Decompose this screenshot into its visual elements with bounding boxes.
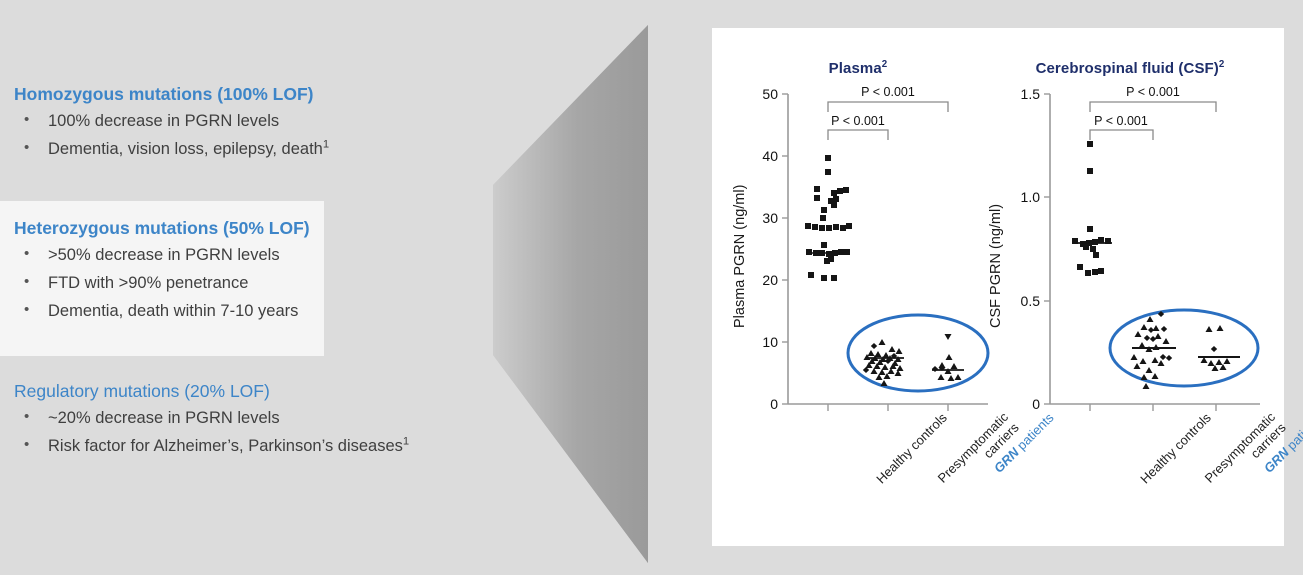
- section-homozygous: Homozygous mutations (100% LOF) 100% dec…: [0, 84, 343, 194]
- section-heterozygous: Heterozygous mutations (50% LOF) >50% de…: [0, 201, 324, 356]
- list-item: >50% decrease in PGRN levels: [14, 244, 310, 268]
- svg-text:0.5: 0.5: [1021, 293, 1041, 309]
- chart-plasma: Plasma2 Plasma PGRN (ng/ml) 0 10: [718, 28, 998, 546]
- footnote-marker: 1: [403, 435, 409, 447]
- chart-csf: Cerebrospinal fluid (CSF)2 CSF PGRN (ng/…: [980, 28, 1280, 546]
- chart-title-csf: Cerebrospinal fluid (CSF)2: [980, 60, 1280, 77]
- section-heading: Heterozygous mutations (50% LOF): [14, 218, 310, 240]
- bullet-list: 100% decrease in PGRN levels Dementia, v…: [14, 110, 329, 162]
- chart-title-plasma: Plasma2: [718, 60, 998, 77]
- svg-text:1.0: 1.0: [1021, 189, 1041, 205]
- slide-root: Homozygous mutations (100% LOF) 100% dec…: [0, 0, 1303, 575]
- list-item: Risk factor for Alzheimer’s, Parkinson’s…: [14, 435, 409, 459]
- list-item: FTD with >90% penetrance: [14, 272, 310, 296]
- right-pointing-arrow-shape: [493, 25, 653, 563]
- section-heading: Homozygous mutations (100% LOF): [14, 84, 329, 106]
- svg-text:P < 0.001: P < 0.001: [1094, 114, 1148, 128]
- svg-text:P < 0.001: P < 0.001: [1126, 85, 1180, 99]
- svg-text:P < 0.001: P < 0.001: [861, 85, 915, 99]
- plot-area-plasma: 0 10 20 30 40 50 P < 0.: [742, 86, 994, 416]
- svg-text:50: 50: [762, 86, 778, 102]
- svg-text:0: 0: [770, 396, 778, 412]
- bullet-list: ~20% decrease in PGRN levels Risk factor…: [14, 407, 409, 459]
- list-item: Dementia, vision loss, epilepsy, death1: [14, 138, 329, 162]
- bullet-list: >50% decrease in PGRN levels FTD with >9…: [14, 244, 310, 324]
- svg-text:10: 10: [762, 334, 778, 350]
- footnote-marker: 1: [323, 138, 329, 150]
- list-item: Dementia, death within 7-10 years: [14, 300, 310, 324]
- svg-text:20: 20: [762, 272, 778, 288]
- section-regulatory: Regulatory mutations (20% LOF) ~20% decr…: [0, 381, 423, 491]
- section-heading: Regulatory mutations (20% LOF): [14, 381, 409, 403]
- svg-text:30: 30: [762, 210, 778, 226]
- svg-text:1.5: 1.5: [1021, 86, 1041, 102]
- plot-area-csf: 0 0.5 1.0 1.5 P < 0.001 P < 0.001: [998, 86, 1268, 416]
- svg-text:P < 0.001: P < 0.001: [831, 114, 885, 128]
- figure-panel: Plasma2 Plasma PGRN (ng/ml) 0 10: [712, 28, 1284, 546]
- svg-text:40: 40: [762, 148, 778, 164]
- list-item: ~20% decrease in PGRN levels: [14, 407, 409, 431]
- svg-text:0: 0: [1032, 396, 1040, 412]
- list-item: 100% decrease in PGRN levels: [14, 110, 329, 134]
